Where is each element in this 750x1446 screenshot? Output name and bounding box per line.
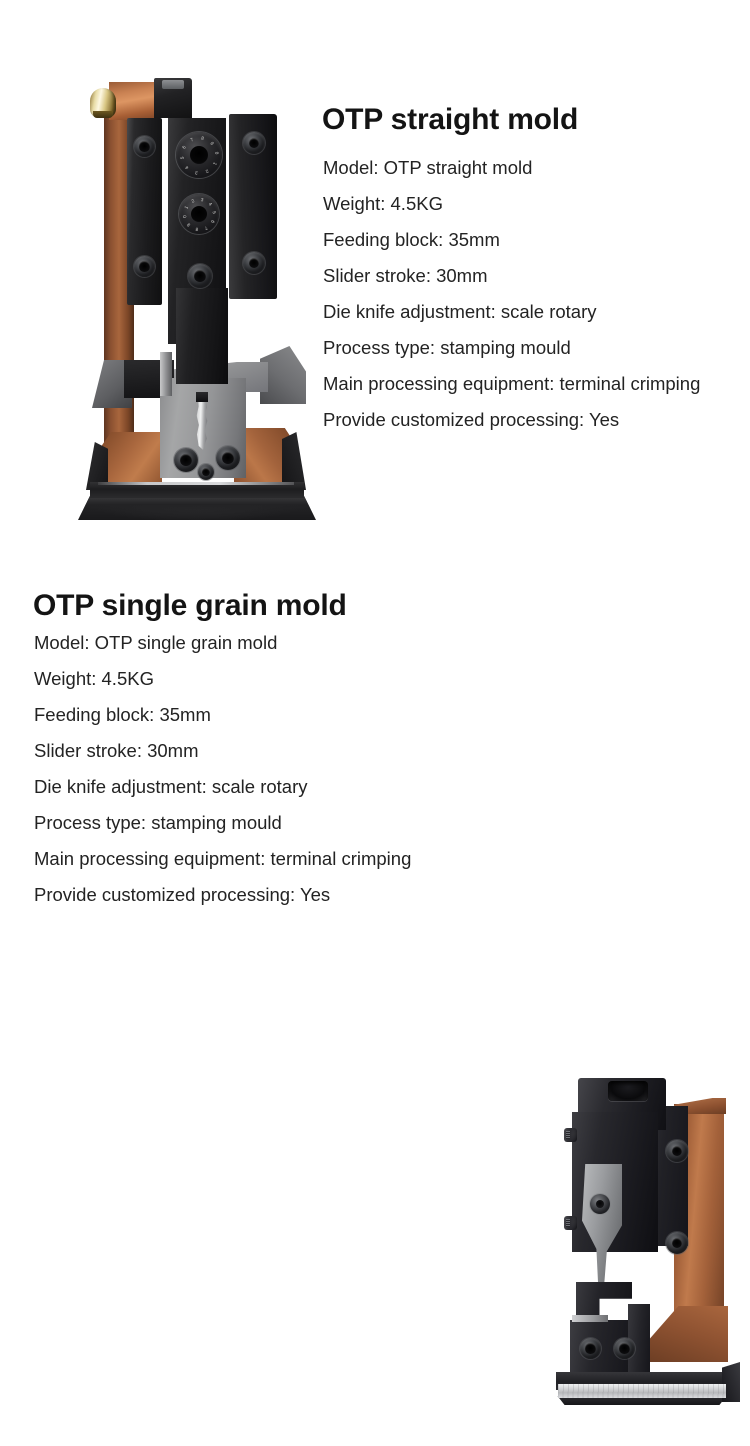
dial-digit: 2 [203, 167, 210, 174]
dial-digit: 8 [199, 135, 205, 141]
dial-digit: 8 [194, 226, 200, 232]
spec-die-knife-adjustment: Die knife adjustment: scale rotary [323, 294, 700, 330]
spec-feeding-block: Feeding block: 35mm [323, 222, 700, 258]
die-knife-blade [582, 1164, 622, 1282]
spec-weight: Weight: 4.5KG [34, 661, 411, 697]
spec-process-type: Process type: stamping mould [323, 330, 700, 366]
page-title-otp-straight-mold: OTP straight mold [322, 105, 578, 135]
dial-digit: 4 [206, 200, 213, 207]
dial-digit: 6 [209, 218, 216, 225]
anvil-centre-pin [198, 464, 214, 480]
terminal-tip [196, 392, 208, 402]
lower-scale-rotary-dial[interactable]: 0123456789 [179, 194, 219, 234]
die-knife [160, 352, 172, 396]
spec-process-type: Process type: stamping mould [34, 805, 411, 841]
anvil-socket-screw [174, 448, 198, 472]
spec-list-otp-straight-mold: Model: OTP straight mold Weight: 4.5KG F… [323, 150, 700, 438]
spec-list-otp-single-grain-mold: Model: OTP single grain mold Weight: 4.5… [34, 625, 411, 913]
spec-main-processing-equipment: Main processing equipment: terminal crim… [34, 841, 411, 877]
copper-foot [648, 1306, 728, 1362]
side-set-screw [564, 1216, 577, 1230]
product-block-otp-straight-mold: 0123456789 0123456789 OTP straight mold … [0, 0, 750, 510]
anvil-socket-screw [580, 1338, 601, 1359]
top-black-cap [154, 78, 192, 118]
dial-digit: 7 [188, 136, 195, 143]
dial-digit: 1 [211, 160, 218, 167]
socket-screw [134, 256, 155, 277]
spec-model: Model: OTP straight mold [323, 150, 700, 186]
upper-scale-rotary-dial[interactable]: 0123456789 [176, 132, 222, 178]
base-plate-front [78, 496, 316, 520]
blade-clamp-screw [590, 1194, 610, 1214]
otp-straight-mold-photo: 0123456789 0123456789 [64, 60, 328, 510]
spec-feeding-block: Feeding block: 35mm [34, 697, 411, 733]
dial-digit: 2 [189, 197, 196, 204]
spec-slider-stroke: Slider stroke: 30mm [34, 733, 411, 769]
socket-screw [666, 1140, 688, 1162]
dial-digit: 3 [193, 169, 199, 175]
product-block-otp-single-grain-mold: OTP single grain mold Model: OTP single … [0, 510, 750, 931]
dial-digit: 5 [179, 155, 185, 161]
spec-model: Model: OTP single grain mold [34, 625, 411, 661]
dial-digit: 9 [185, 221, 192, 228]
spec-die-knife-adjustment: Die knife adjustment: scale rotary [34, 769, 411, 805]
socket-screw [243, 252, 265, 274]
spec-main-processing-equipment: Main processing equipment: terminal crim… [323, 366, 700, 402]
socket-screw [188, 264, 212, 288]
dial-digit: 9 [208, 139, 215, 146]
dial-digit: 7 [202, 224, 209, 231]
anvil-socket-screw [216, 446, 240, 470]
otp-single-grain-mold-photo [530, 1066, 750, 1446]
dial-digit: 6 [180, 143, 187, 150]
spec-provide-customized-processing: Provide customized processing: Yes [323, 402, 700, 438]
brass-acorn-nut-icon [90, 88, 116, 118]
spec-slider-stroke: Slider stroke: 30mm [323, 258, 700, 294]
socket-screw [666, 1232, 688, 1254]
base-plate-top [90, 482, 304, 498]
dial-digit: 4 [183, 164, 190, 171]
spec-provide-customized-processing: Provide customized processing: Yes [34, 877, 411, 913]
socket-screw [243, 132, 265, 154]
product-spec-page: { "page": { "background": "#ffffff", "te… [0, 0, 750, 931]
dial-digit: 1 [182, 204, 189, 211]
spec-weight: Weight: 4.5KG [323, 186, 700, 222]
page-title-otp-single-grain-mold: OTP single grain mold [33, 591, 347, 621]
centre-lower-block [176, 288, 228, 384]
dial-digit: 5 [211, 209, 217, 215]
socket-screw [134, 136, 155, 157]
side-set-screw [564, 1128, 577, 1142]
base-plate-front-edge [558, 1384, 726, 1398]
ram-seat-bore [608, 1081, 648, 1101]
lower-jaw-bright-edge [572, 1315, 608, 1322]
anvil-socket-screw [614, 1338, 635, 1359]
dial-digit: 0 [214, 150, 220, 156]
copper-top-bar [109, 82, 157, 120]
dial-digit: 0 [181, 213, 187, 219]
dial-digit: 3 [199, 196, 205, 202]
